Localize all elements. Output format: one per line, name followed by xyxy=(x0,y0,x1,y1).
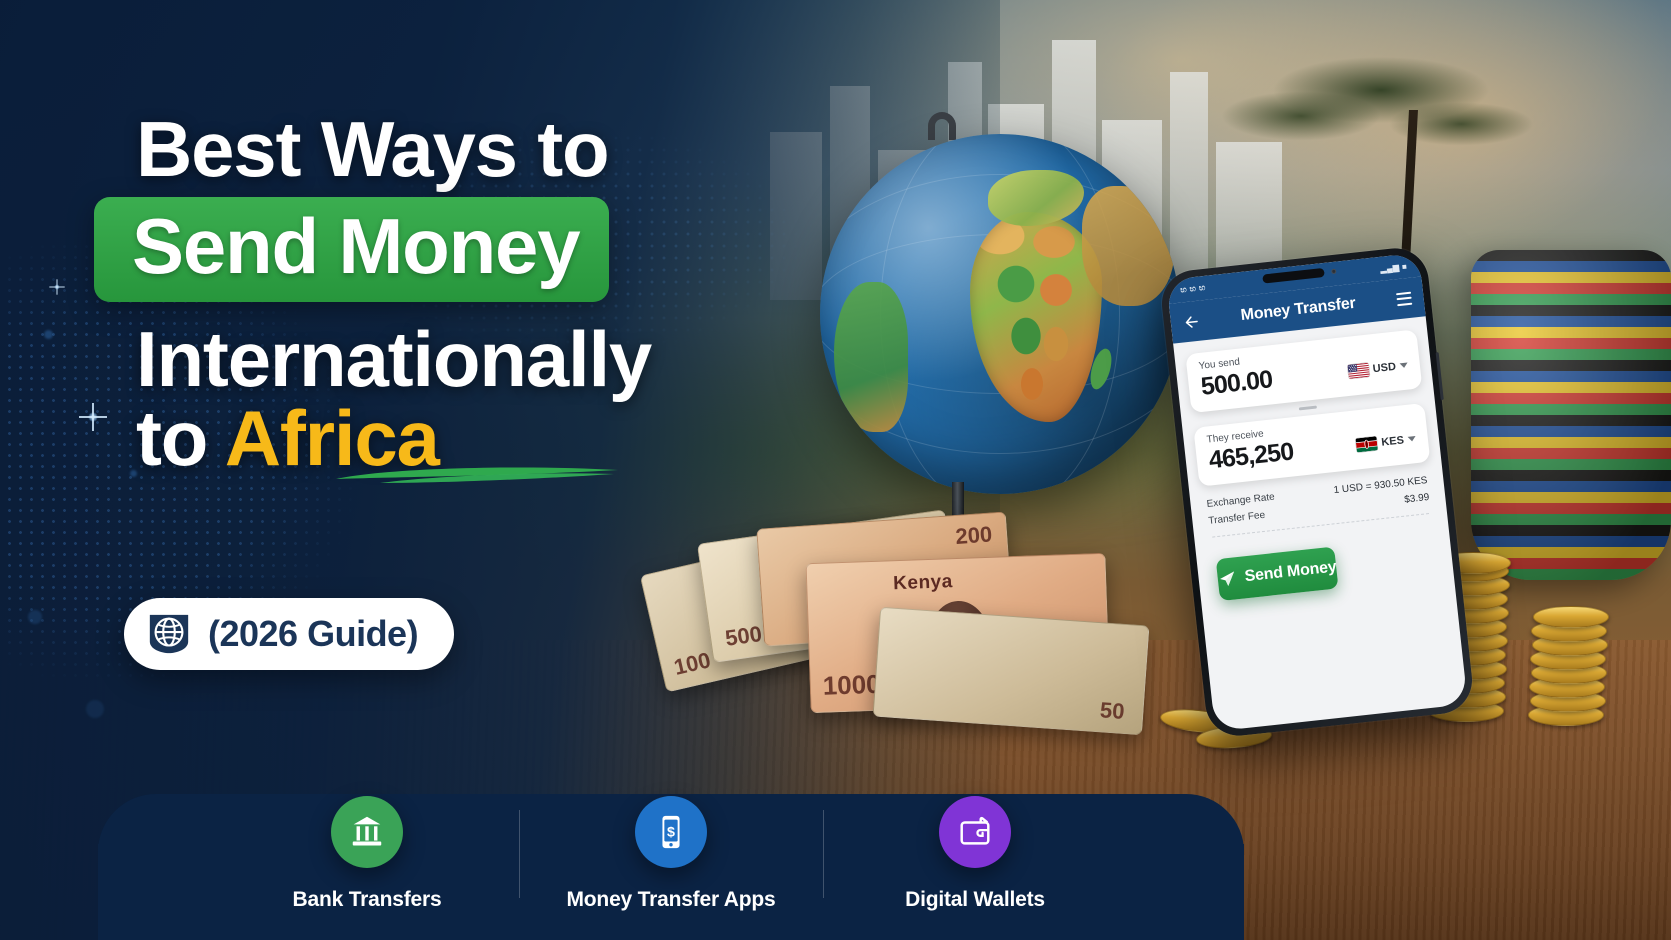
feature-icon-circle xyxy=(331,796,403,868)
banknote: 50 xyxy=(872,607,1149,736)
feature-bank-transfers[interactable]: Bank Transfers xyxy=(215,796,519,940)
globe-shield-icon xyxy=(146,611,192,657)
transfer-form: You send 500.00 xyxy=(1173,316,1454,603)
guide-badge[interactable]: (2026 Guide) xyxy=(124,598,454,670)
phone-camera-dot xyxy=(1331,269,1337,275)
feature-label: Money Transfer Apps xyxy=(567,888,776,912)
feature-icon-circle xyxy=(939,796,1011,868)
kenya-flag-icon xyxy=(1356,436,1378,452)
feature-money-transfer-apps[interactable]: $ Money Transfer Apps xyxy=(519,796,823,940)
bank-icon xyxy=(348,813,386,851)
woven-basket xyxy=(1471,250,1671,580)
us-flag-icon xyxy=(1347,362,1369,378)
headline-block: Best Ways to Send Money Internationally … xyxy=(136,112,836,476)
headline-line-2: Send Money xyxy=(132,202,579,290)
paper-plane-icon xyxy=(1217,569,1238,590)
hamburger-menu-icon[interactable] xyxy=(1396,291,1412,306)
phone-frame: භ භ භ ▂▄▆ ■ Money Transfer xyxy=(1159,245,1476,739)
you-send-amount[interactable]: 500.00 xyxy=(1199,365,1273,402)
globe-sphere xyxy=(820,134,1180,494)
sparkle-icon xyxy=(54,284,60,290)
feature-label: Digital Wallets xyxy=(905,888,1045,912)
bokeh-dot xyxy=(86,700,104,718)
send-money-label: Send Money xyxy=(1244,558,1338,586)
underline-swoosh-icon xyxy=(332,463,622,485)
feature-digital-wallets[interactable]: Digital Wallets xyxy=(823,796,1127,940)
swap-currencies-handle[interactable] xyxy=(1299,406,1317,411)
wallet-icon xyxy=(956,813,994,851)
back-arrow-icon[interactable] xyxy=(1182,312,1201,331)
south-america-landmass xyxy=(834,282,908,432)
phone-screen: භ භ භ ▂▄▆ ■ Money Transfer xyxy=(1166,253,1468,732)
receive-currency-picker[interactable]: KES xyxy=(1356,432,1417,452)
headline-line-3: Internationally xyxy=(136,322,836,397)
status-bar-right: ▂▄▆ ■ xyxy=(1380,261,1408,273)
transfer-fee-label: Transfer Fee xyxy=(1208,510,1266,527)
svg-text:$: $ xyxy=(667,824,675,840)
feature-bar: Bank Transfers $ Money Transfer Apps xyxy=(98,740,1244,940)
chevron-down-icon[interactable] xyxy=(1400,362,1408,368)
bokeh-dot xyxy=(44,330,53,339)
receive-currency-code: KES xyxy=(1381,434,1405,448)
basket-shading xyxy=(1471,250,1671,580)
transfer-fee-value: $3.99 xyxy=(1404,492,1430,506)
send-currency-code: USD xyxy=(1372,360,1396,374)
phone-mockup: භ භ භ ▂▄▆ ■ Money Transfer xyxy=(1159,245,1476,739)
send-currency-picker[interactable]: USD xyxy=(1347,358,1408,378)
you-send-card[interactable]: You send 500.00 xyxy=(1185,329,1422,413)
headline-line-1: Best Ways to xyxy=(136,112,836,187)
mobile-money-icon: $ xyxy=(652,813,690,851)
headline-line-4-prefix: to xyxy=(136,394,225,482)
hero-banner: 100 500 200 Kenya 1000 50 xyxy=(0,0,1671,940)
status-bar-left: භ භ භ xyxy=(1180,283,1206,296)
banknote-fan: 100 500 200 Kenya 1000 50 xyxy=(640,520,1160,760)
send-money-button[interactable]: Send Money xyxy=(1216,546,1339,601)
chevron-down-icon[interactable] xyxy=(1408,436,1416,442)
headline-line-4: to Africa xyxy=(136,401,836,476)
sparkle-icon xyxy=(88,412,98,422)
guide-badge-text: (2026 Guide) xyxy=(208,613,418,655)
phone-speaker-notch xyxy=(1262,268,1325,284)
bokeh-dot xyxy=(28,610,42,624)
feature-label: Bank Transfers xyxy=(293,888,442,912)
feature-icon-circle: $ xyxy=(635,796,707,868)
headline-green-highlight: Send Money xyxy=(94,197,609,302)
headline-line-2-wrap: Send Money xyxy=(136,197,836,302)
